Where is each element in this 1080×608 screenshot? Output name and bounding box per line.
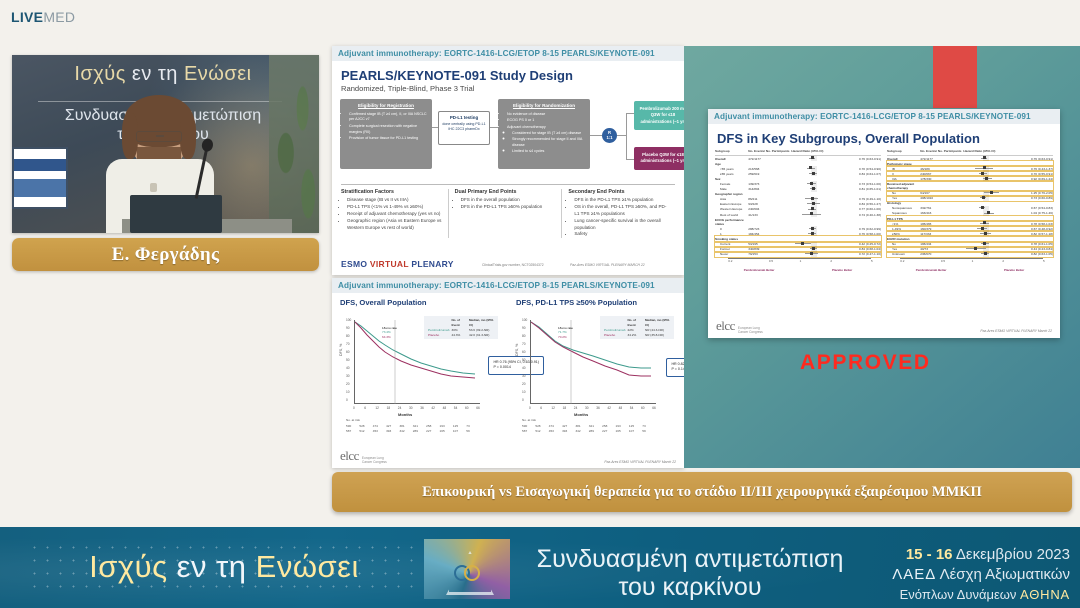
km-x-tick: 42 (431, 406, 435, 410)
km-y-tick: 10 (346, 390, 350, 394)
fp-axis-tick: 0.2 (728, 259, 732, 263)
stage-motto-part2: εν τη (126, 63, 184, 85)
screen-root: LIVEMED Ισχύς εν τη Ενώσει Συνδυασμένη α… (0, 0, 1080, 608)
km2-at-risk: No. at risk 5905284744273813212581931257… (522, 418, 646, 433)
km-y-tick: 50 (346, 358, 350, 362)
footer-dates: 15 - 16 Δεκεμβρίου 2023 (892, 545, 1070, 565)
registration-item: Complete surgical resection with negativ… (349, 124, 428, 135)
glasses-icon (136, 131, 182, 142)
km1-title: DFS, Overall Population (340, 298, 427, 307)
randomization-item: Adjuvant chemotherapy Considered for sta… (507, 125, 586, 155)
box-eligibility-registration: Eligibility for Registration Confirmed s… (340, 99, 432, 169)
arm-pembrolizumab: Pembrolizumab 200 mg Q3W for ≤18 adminis… (634, 101, 684, 130)
fp-axis-tick: 5 (1043, 259, 1045, 263)
box-pdl1-text: done centrally using PD-L1 IHC 22C3 phar… (442, 122, 485, 131)
box-pdl1-testing: PD-L1 testing done centrally using PD-L1… (438, 111, 490, 145)
km-panel-overall: DFS, Overall Population 0612182430364248… (338, 312, 506, 440)
laptop (130, 195, 222, 233)
km-x-tick: 66 (652, 406, 656, 410)
km-x-tick: 66 (476, 406, 480, 410)
approved-label: APPROVED (800, 351, 931, 375)
randomization-item: ECOG PS 0 or 1 (507, 118, 586, 124)
fp-hazard-ratio: 0.72 (0.47-1.10) (841, 252, 881, 257)
fp-axis-tick: 0.2 (900, 259, 904, 263)
km-x-tick: 60 (641, 406, 645, 410)
km-y-tick: 40 (522, 366, 526, 370)
livemed-logo: LIVEMED (11, 9, 75, 25)
secondary-item: Safety (574, 231, 669, 238)
km-y-tick: 60 (346, 350, 350, 354)
km-x-tick: 36 (596, 406, 600, 410)
fp-hazard-ratio (1013, 181, 1053, 190)
at-risk-row: 59052847442738132125819312573 (522, 424, 646, 428)
km-y-tick: 60 (522, 350, 526, 354)
km1-at-risk: No. at risk 5905284744273813212581931257… (346, 418, 470, 433)
km-y-tick: 80 (346, 334, 350, 338)
slide-b-header: Adjuvant immunotherapy: EORTC-1416-LCG/E… (332, 278, 684, 293)
km1-legend: 18-mo rate 73.4% 64.3% (382, 326, 397, 339)
stage-banner-motto: Ισχύς εν τη Ενώσει (38, 63, 288, 86)
box-randomization-title: Eligibility for Randomization (502, 103, 586, 110)
fp-marker-cell (963, 252, 1013, 257)
fp-left-footnote: Pembrolizumab BetterPlacebo Better (715, 268, 881, 272)
forest-plot-left: SubgroupNo. Events/ No. ParticipantsHaza… (715, 149, 881, 272)
fp-right-footnote: Pembrolizumab BetterPlacebo Better (887, 268, 1053, 272)
fp-hazard-ratio: 0.82 (0.63-1.05) (1013, 252, 1053, 257)
brand-med: MED (43, 9, 75, 25)
km-y-tick: 20 (522, 382, 526, 386)
km2-legend: 18-mo rate 71.7% 70.2% (558, 326, 573, 339)
slide-c-title: DFS in Key Subgroups, Overall Population (717, 131, 1060, 146)
brand-live: LIVE (11, 9, 43, 25)
fp-subgroup-label: Never (715, 252, 748, 257)
km-x-tick: 30 (585, 406, 589, 410)
fp-axis-tick: 0.5 (941, 259, 945, 263)
km-x-tick: 0 (353, 406, 355, 410)
conference-footer: Ισχύς εν τη Ενώσει Συνδυασμένη αντιμετώπ… (0, 527, 1080, 608)
slide-c-credit: Paz-Ares ESMO VIRTUAL PLENARY March 22 (980, 329, 1052, 333)
fp-row: Received adjuvant chemotherapy (887, 181, 1053, 190)
fp-axis-tick: 2 (1002, 259, 1004, 263)
km-x-tick: 36 (420, 406, 424, 410)
primary-item: DFS in the overall population (461, 197, 556, 204)
km-y-tick: 30 (346, 374, 350, 378)
slide-subgroups[interactable]: Adjuvant immunotherapy: EORTC-1416-LCG/E… (708, 109, 1060, 338)
slide-c-header: Adjuvant immunotherapy: EORTC-1416-LCG/E… (708, 109, 1060, 124)
footer-venue: Ενόπλων Δυνάμεων ΑΘΗΝΑ (892, 586, 1070, 604)
km-x-tick: 24 (574, 406, 578, 410)
footer-title-line1: Συνδυασμένη αντιμετώπιση (520, 545, 860, 573)
km-panel-pdl1: DFS, PD-L1 TPS ≥50% Population 061218243… (514, 312, 682, 440)
trial-registration: ClinicalTrials.gov number, NCT02504372 (482, 263, 544, 267)
fp-events (748, 217, 791, 226)
registration-item: Provision of tumor tissue for PD-L1 test… (349, 136, 428, 142)
km-y-tick: 90 (522, 326, 526, 330)
fp-row: Never79/1530.72 (0.47-1.10) (715, 252, 881, 257)
arm-placebo: Placebo Q3W for ≤18 administrations (~1 … (634, 147, 684, 170)
forest-plot-right: SubgroupNo. Events/ No. ParticipantsHaza… (887, 149, 1053, 272)
footer-title-line2: του καρκίνου (520, 573, 860, 601)
fp-right-axis: 0.20.5125 (887, 258, 1053, 267)
fp-subgroup-label: ECOG performance status (715, 217, 748, 226)
session-title-bar: Επικουρική vs Εισαγωγική θεραπεία για το… (332, 472, 1072, 512)
fp-subgroup-label: Unknown (887, 252, 920, 257)
elcc-logo-c: elcc European Lung Cancer Congress (716, 318, 763, 334)
km-x-tick: 48 (443, 406, 447, 410)
secondary-item: OS in the overall, PD-L1 TPS ≥50%, and P… (574, 204, 669, 218)
registration-item: Confirmed stage IB (T ≥4 cm), II, or III… (349, 112, 428, 123)
box-pdl1-title: PD-L1 testing (441, 115, 487, 121)
km-x-tick: 54 (454, 406, 458, 410)
speaker-name-banner: Ε. Φεργάδης (12, 238, 319, 271)
randomization-item: No evidence of disease (507, 112, 586, 118)
fp-axis-tick: 0.5 (769, 259, 773, 263)
km-x-tick: 24 (398, 406, 402, 410)
conference-emblem-icon (424, 539, 510, 599)
footer-motto-part3: Ενώσει (256, 549, 359, 584)
randomize-ratio: 1:1 (606, 136, 612, 141)
secondary-title: Secondary End Points (568, 189, 669, 195)
slide-a-header: Adjuvant immunotherapy: EORTC-1416-LCG/E… (332, 46, 684, 61)
fp-axis-tick: 5 (871, 259, 873, 263)
fp-row: ECOG performance status (715, 217, 881, 226)
km-x-tick: 30 (409, 406, 413, 410)
footer-organization: ΛΑΕΔ Λέσχη Αξιωματικών (892, 565, 1070, 585)
slide-b-credit: Paz-Ares ESMO VIRTUAL PLENARY March 22 (604, 460, 676, 464)
fp-subgroup-label: Received adjuvant chemotherapy (887, 181, 920, 190)
elcc-logo-b: elcc European Lung Cancer Congress (340, 448, 387, 464)
study-flow-diagram: Eligibility for Registration Confirmed s… (340, 99, 676, 177)
at-risk-row: 58751245339334228922716510759 (522, 429, 646, 433)
podium-monitor (12, 147, 68, 209)
km-y-tick: 50 (522, 358, 526, 362)
at-risk-row: 59052847442738132125819312573 (346, 424, 470, 428)
fp-events: 236/670 (920, 252, 963, 257)
footer-main-title: Συνδυασμένη αντιμετώπιση του καρκίνου (520, 545, 860, 601)
km2-xlabel: Months (574, 412, 588, 417)
primary-title: Dual Primary End Points (455, 189, 556, 195)
randomization-node: R 1:1 (602, 128, 617, 143)
slide-a-credit: Paz-Ares ESMO VIRTUAL PLENARY MARCH 22 (570, 263, 645, 267)
fp-axis-tick: 1 (800, 259, 802, 263)
footer-motto-part2: εν τη (168, 549, 256, 584)
slide-a-title: PEARLS/KEYNOTE-091 Study Design (341, 68, 684, 83)
teal-display-board: Adjuvant immunotherapy: EORTC-1416-LCG/E… (684, 46, 1080, 468)
km-y-tick: 40 (346, 366, 350, 370)
footer-motto: Ισχύς εν τη Ενώσει (28, 549, 420, 585)
km-y-tick: 70 (346, 342, 350, 346)
box-registration-title: Eligibility for Registration (344, 103, 428, 110)
km-x-tick: 18 (563, 406, 567, 410)
km2-title: DFS, PD-L1 TPS ≥50% Population (516, 298, 637, 307)
plant-decoration (269, 55, 319, 233)
km-y-tick: 20 (346, 382, 350, 386)
km2-stats: No. of EventMedian, mo (95% CI) Pembroli… (600, 316, 674, 339)
km1-xlabel: Months (398, 412, 412, 417)
at-risk-row: 58751245339334228922716510759 (346, 429, 470, 433)
km-x-tick: 60 (465, 406, 469, 410)
km-y-tick: 10 (522, 390, 526, 394)
fp-marker-cell (791, 217, 841, 226)
km-y-tick: 30 (522, 374, 526, 378)
strat-item: PD-L1 TPS (<1% vs 1-49% vs ≥50%) (347, 204, 442, 211)
fp-events: 79/153 (748, 252, 791, 257)
km-x-tick: 0 (529, 406, 531, 410)
secondary-item: Lung cancer-specific survival in the ove… (574, 218, 669, 232)
km-x-tick: 48 (619, 406, 623, 410)
col-stratification: Stratification Factors Disease stage (IB… (341, 189, 448, 238)
fp-marker-cell (963, 181, 1013, 190)
km-y-tick: 0 (346, 398, 348, 402)
primary-item: DFS in the PD-L1 TPS ≥50% population (461, 204, 556, 211)
km-x-tick: 6 (364, 406, 366, 410)
col-primary-endpoints: Dual Primary End Points DFS in the overa… (448, 189, 562, 238)
speaker-video[interactable]: Ισχύς εν τη Ενώσει Συνδυασμένη αντιμετώπ… (12, 55, 319, 233)
km-x-tick: 12 (375, 406, 379, 410)
km1-stats: No. of EventMedian, mo (95% CI) Pembroli… (424, 316, 498, 339)
secondary-item: DFS in the PD-L1 TPS ≥1% population (574, 197, 669, 204)
stage-motto-part1: Ισχύς (74, 63, 125, 85)
km-x-tick: 12 (551, 406, 555, 410)
fp-left-axis: 0.20.5125 (715, 258, 881, 267)
strat-item: Geographic region (Asia vs Eastern Europ… (347, 218, 442, 232)
session-title: Επικουρική vs Εισαγωγική θεραπεία για το… (422, 484, 982, 501)
km-x-tick: 54 (630, 406, 634, 410)
fp-hazard-ratio (841, 217, 881, 226)
endpoints-columns: Stratification Factors Disease stage (IB… (341, 184, 675, 238)
esmo-virtual-plenary-logo: ESMO VIRTUAL PLENARY (341, 259, 454, 269)
slide-dfs-curves[interactable]: Adjuvant immunotherapy: EORTC-1416-LCG/E… (332, 278, 684, 468)
forest-plot-wrapper: SubgroupNo. Events/ No. ParticipantsHaza… (708, 149, 1060, 272)
km-x-tick: 42 (607, 406, 611, 410)
slide-study-design[interactable]: Adjuvant immunotherapy: EORTC-1416-LCG/E… (332, 46, 684, 275)
km-x-tick: 18 (387, 406, 391, 410)
red-accent-bar (933, 46, 977, 108)
km-y-tick: 70 (522, 342, 526, 346)
speaker-name: Ε. Φεργάδης (112, 244, 220, 266)
km2-pvalue: P = 0.14 (671, 367, 684, 372)
box-eligibility-randomization: Eligibility for Randomization No evidenc… (498, 99, 590, 169)
slide-a-subtitle: Randomized, Triple-Blind, Phase 3 Trial (341, 84, 684, 93)
km2-ylabel: DFS, % (515, 344, 519, 356)
km-y-tick: 90 (346, 326, 350, 330)
stage-motto-part3: Ενώσει (184, 63, 252, 85)
km-y-tick: 100 (346, 318, 351, 322)
km-y-tick: 80 (522, 334, 526, 338)
fp-axis-tick: 1 (972, 259, 974, 263)
strat-title: Stratification Factors (341, 189, 442, 195)
fp-row: Unknown236/6700.82 (0.63-1.05) (887, 252, 1053, 257)
col-secondary-endpoints: Secondary End Points DFS in the PD-L1 TP… (561, 189, 675, 238)
footer-motto-part1: Ισχύς (89, 549, 167, 584)
fp-marker-cell (791, 252, 841, 257)
km2-hr-box: HR 0.82 (95% CI, 0.57-1.18) P = 0.14 (666, 358, 684, 377)
km1-ylabel: DFS, % (339, 344, 343, 356)
km-y-tick: 0 (522, 398, 524, 402)
strat-item: Disease stage (IB vs II vs IIIA) (347, 197, 442, 204)
fp-events (920, 181, 963, 190)
fp-axis-tick: 2 (830, 259, 832, 263)
km-y-tick: 100 (522, 318, 527, 322)
footer-details: 15 - 16 Δεκεμβρίου 2023 ΛΑΕΔ Λέσχη Αξιωμ… (892, 545, 1070, 603)
strat-item: Receipt of adjuvant chemotherapy (yes vs… (347, 211, 442, 218)
km-x-tick: 6 (540, 406, 542, 410)
